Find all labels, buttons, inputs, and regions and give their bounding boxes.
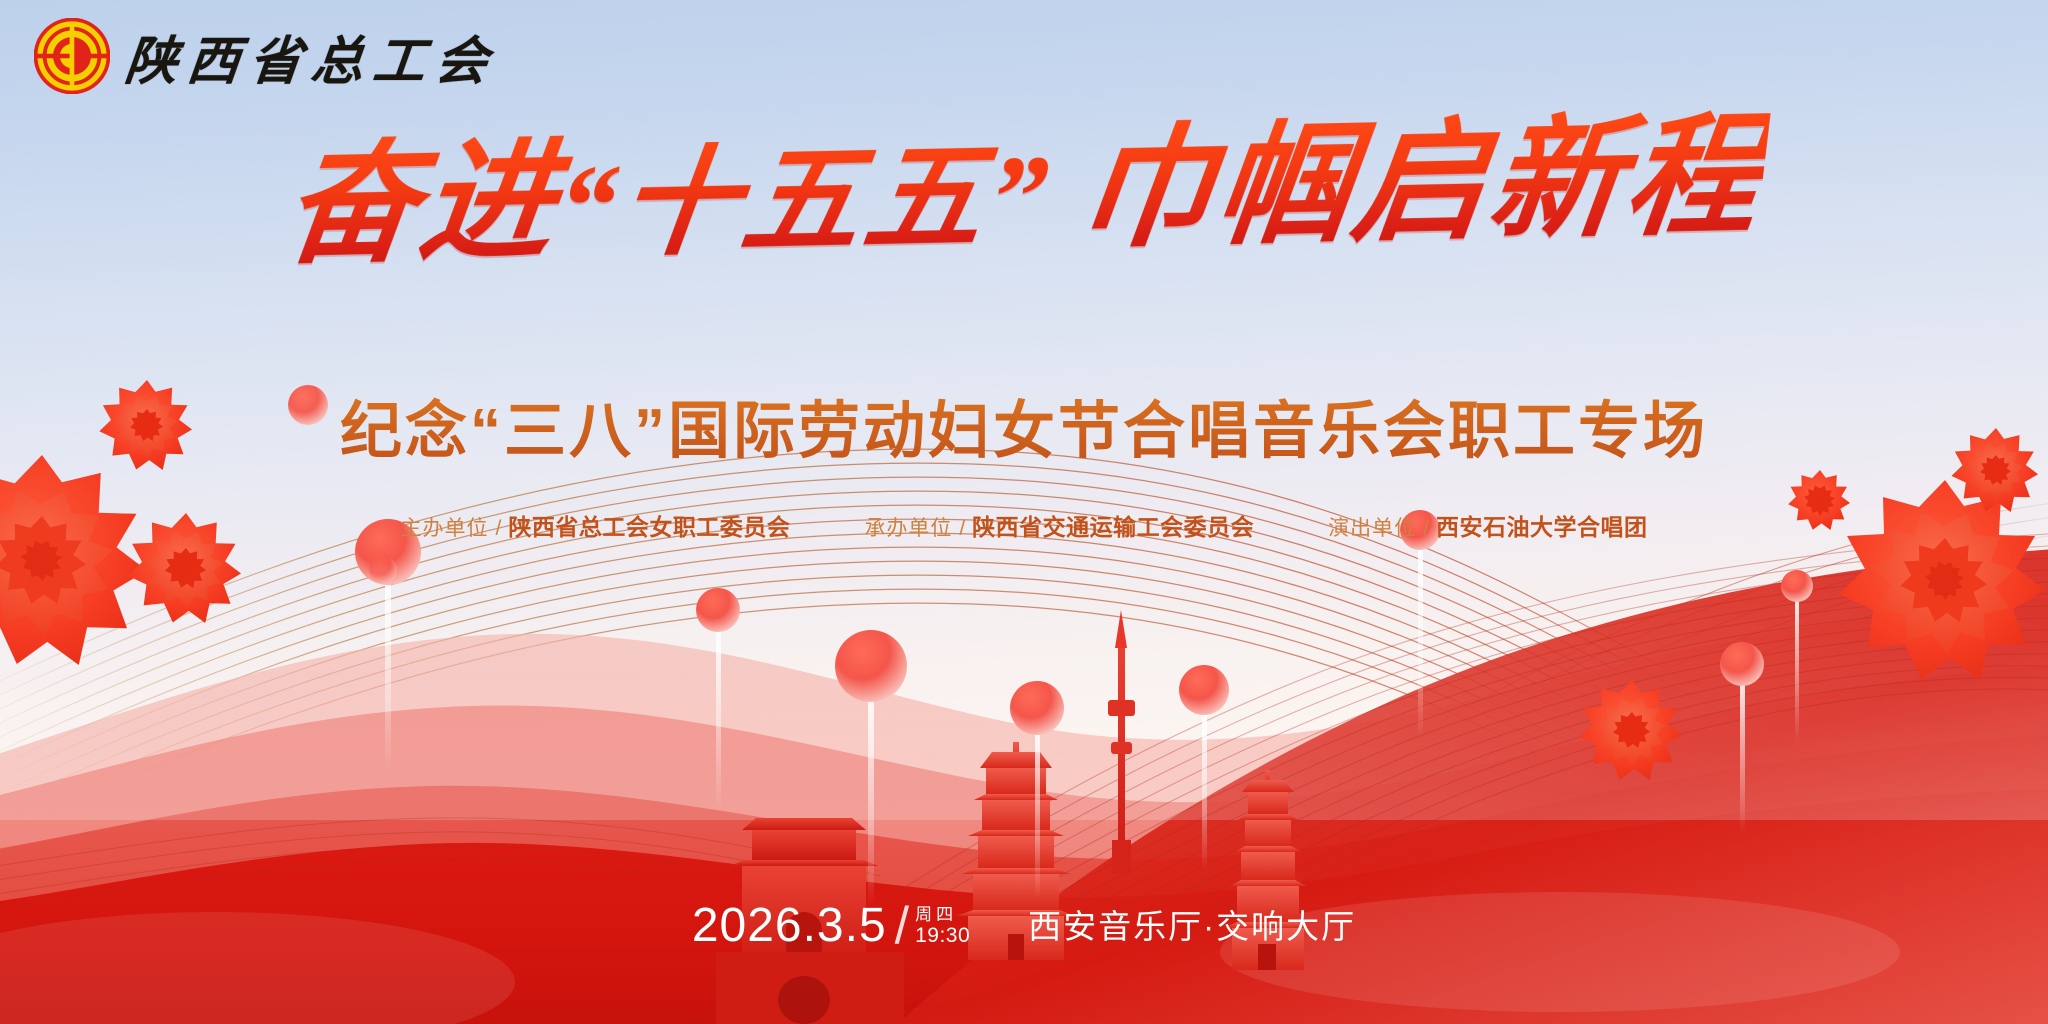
acftu-union-emblem-icon <box>34 18 110 94</box>
organization-name: 陕西省总工会 <box>123 26 501 86</box>
event-venue: 西安音乐厅·交响大厅 <box>1028 900 1356 948</box>
credit-separator: / <box>1423 517 1429 541</box>
credits-row: 主办单位 / 陕西省总工会女职工委员会 承办单位 / 陕西省交通运输工会委员会 … <box>0 508 2048 542</box>
main-title-part-2: “十五五” <box>549 130 1058 271</box>
main-title-part-3: 巾帼启新程 <box>1072 103 1771 264</box>
credit-role: 演出单位 <box>1328 512 1416 542</box>
credit-role: 主办单位 <box>400 512 488 542</box>
credit-organizer: 承办单位 / 陕西省交通运输工会委员会 <box>864 508 1254 542</box>
credit-separator: / <box>959 517 965 541</box>
main-title: 奋进“十五五”巾帼启新程 <box>276 103 1772 282</box>
event-weekday: 周四 <box>915 905 970 924</box>
event-date-block: 2026.3.5 / 周四 19:30 <box>692 898 970 950</box>
main-title-part-1: 奋进 <box>276 128 566 281</box>
credit-separator: / <box>495 517 501 541</box>
title-group: 奋进“十五五”巾帼启新程 <box>0 118 2048 266</box>
organization-logo: 陕西省总工会 <box>34 18 498 94</box>
credit-host: 主办单位 / 陕西省总工会女职工委员会 <box>400 508 790 542</box>
event-weekday-time: 周四 19:30 <box>915 905 970 948</box>
flower-bloom-icon <box>0 455 147 665</box>
event-date: 2026.3.5 <box>692 902 887 950</box>
credit-org: 西安石油大学合唱团 <box>1436 508 1648 542</box>
date-separator: / <box>895 900 909 952</box>
credit-role: 承办单位 <box>864 512 952 542</box>
event-time: 19:30 <box>915 924 970 948</box>
poster-canvas: 陕西省总工会 奋进“十五五”巾帼启新程 纪念“三八”国际劳动妇女节合唱音乐会职工… <box>0 0 2048 1024</box>
flower-bloom-icon <box>1579 680 1682 780</box>
event-info-row: 2026.3.5 / 周四 19:30 西安音乐厅·交响大厅 <box>0 898 2048 950</box>
credit-performer: 演出单位 / 西安石油大学合唱团 <box>1328 508 1647 542</box>
subtitle: 纪念“三八”国际劳动妇女节合唱音乐会职工专场 <box>0 380 2048 470</box>
credit-org: 陕西省交通运输工会委员会 <box>972 508 1254 542</box>
credit-org: 陕西省总工会女职工委员会 <box>508 508 790 542</box>
